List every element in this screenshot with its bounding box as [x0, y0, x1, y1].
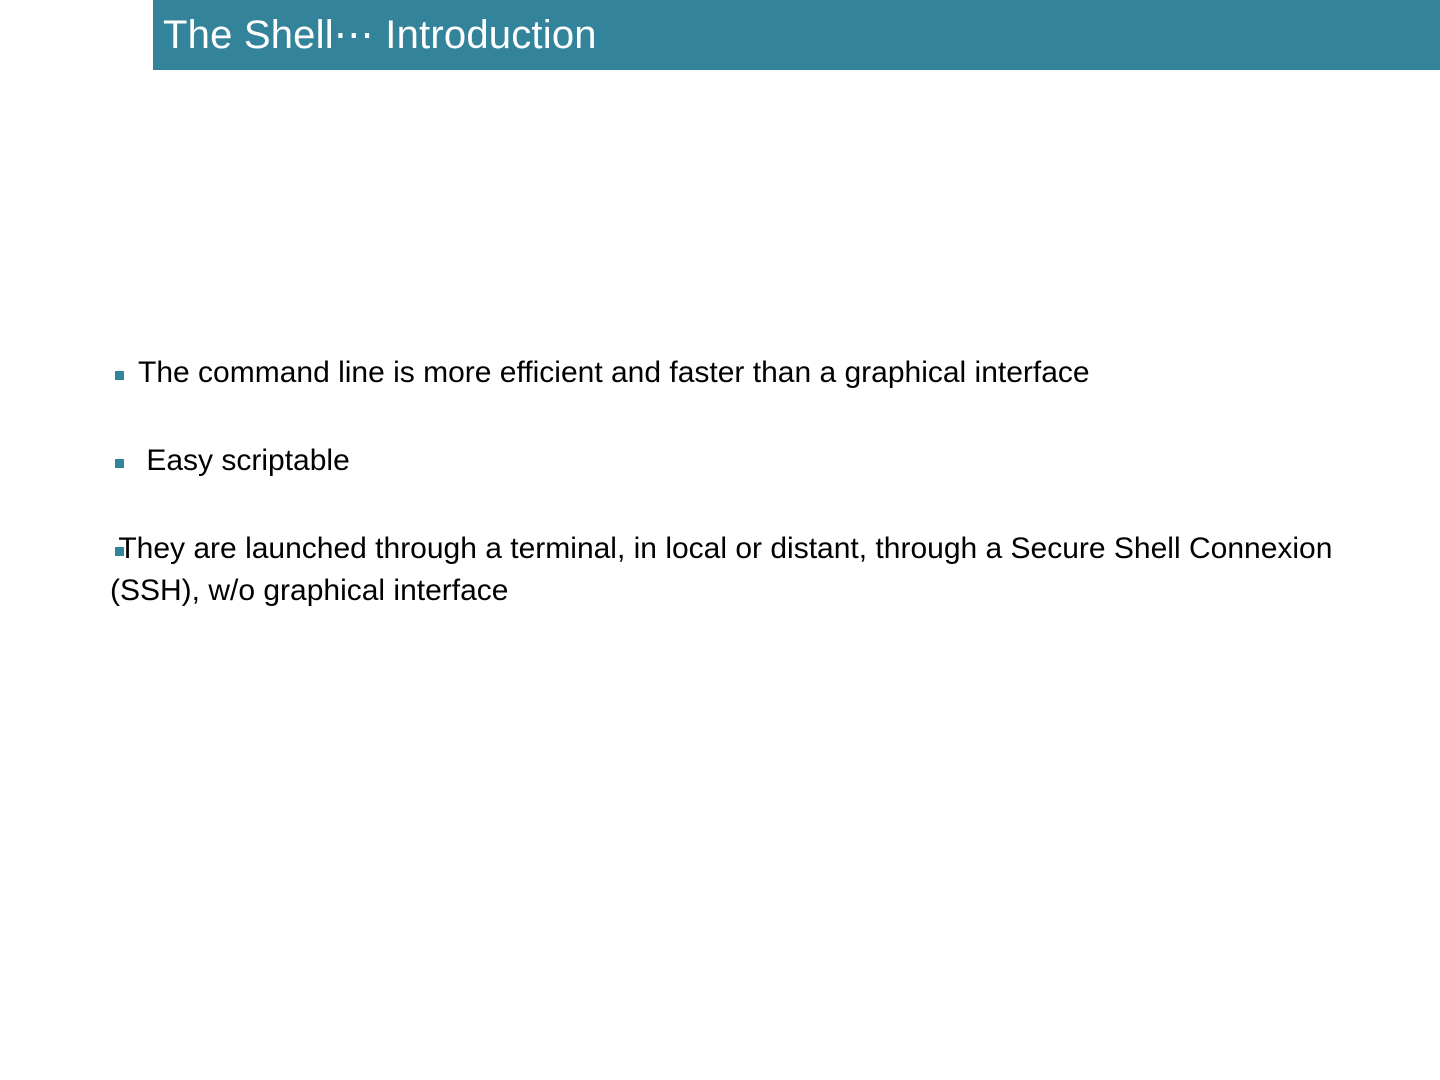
bullet-item-3: They are launched through a terminal, in… — [110, 528, 1335, 612]
slide-title: The Shell⋯ Introduction — [163, 15, 597, 55]
bullet-item-1-text: The command line is more efficient and f… — [138, 352, 1335, 394]
bullet-item-2-text: Easy scriptable — [138, 440, 1335, 482]
slide-body: The command line is more efficient and f… — [110, 352, 1335, 612]
square-bullet-icon — [115, 459, 124, 468]
slide-title-banner: The Shell⋯ Introduction — [153, 0, 1440, 70]
square-bullet-icon — [115, 547, 124, 556]
bullet-item-1: The command line is more efficient and f… — [110, 352, 1335, 394]
square-bullet-icon — [115, 371, 124, 380]
bullet-item-3-text: They are launched through a terminal, in… — [110, 528, 1335, 612]
presentation-slide: The Shell⋯ Introduction The command line… — [0, 0, 1440, 1080]
bullet-item-2: Easy scriptable — [110, 440, 1335, 482]
